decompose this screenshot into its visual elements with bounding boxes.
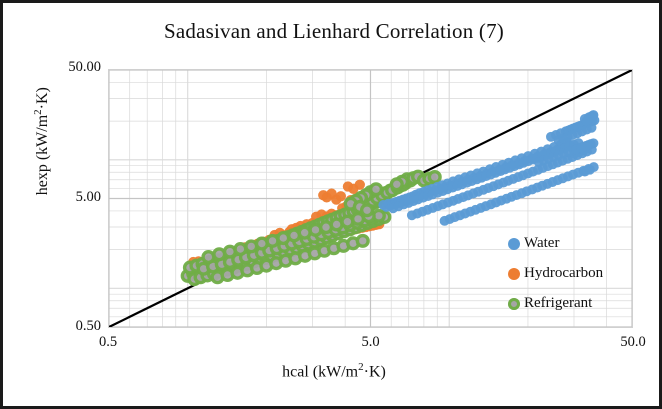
x-tick-label: 50.0: [588, 334, 662, 351]
legend-item-refrigerant[interactable]: Refrigerant: [508, 295, 603, 312]
series-water: [378, 110, 599, 226]
x-axis-title-main: hcal (kW/m: [282, 363, 358, 380]
chart-title: Sadasivan and Lienhard Correlation (7): [3, 19, 662, 44]
legend-label: Water: [524, 235, 559, 252]
legend-item-hydrocarbon[interactable]: Hydrocarbon: [508, 265, 603, 282]
x-axis-title: hcal (kW/m2·K): [3, 361, 662, 381]
y-tick-label: 5.00: [37, 189, 101, 206]
x-tick-label: 0.5: [63, 334, 153, 351]
legend-swatch-icon: [508, 298, 520, 310]
x-axis-title-tail: ·K): [364, 363, 386, 380]
legend-label: Refrigerant: [524, 295, 592, 312]
chart-figure: Sadasivan and Lienhard Correlation (7) h…: [0, 0, 662, 409]
legend-item-water[interactable]: Water: [508, 235, 603, 252]
x-tick-label: 5.0: [326, 334, 416, 351]
legend-swatch-icon: [508, 268, 520, 280]
legend: WaterHydrocarbonRefrigerant: [508, 235, 603, 312]
y-tick-label: 50.00: [37, 59, 101, 76]
x-axis-tick-labels: 0.55.050.0: [3, 334, 662, 356]
y-tick-label: 0.50: [37, 318, 101, 335]
legend-label: Hydrocarbon: [524, 265, 603, 282]
series-refrigerant: [182, 171, 440, 284]
legend-swatch-icon: [508, 238, 520, 250]
